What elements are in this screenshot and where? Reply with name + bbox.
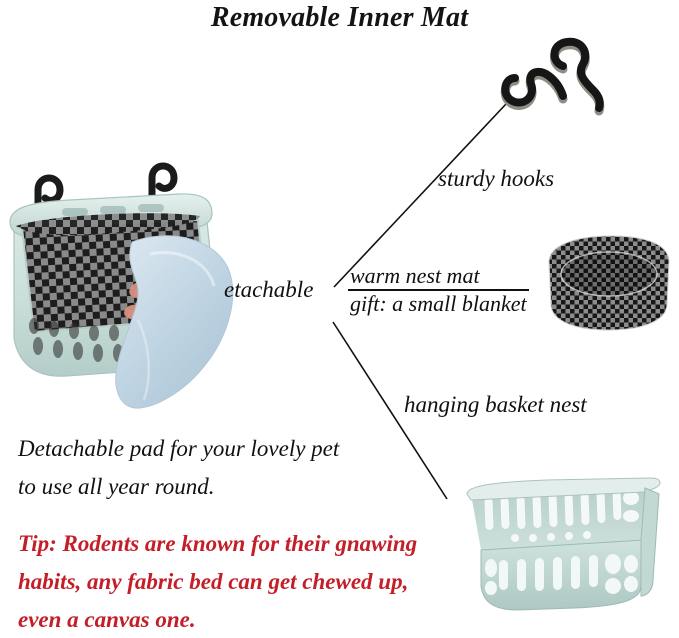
annotation-sturdy-hooks: sturdy hooks <box>438 166 554 192</box>
photo-gingham-nest-mat <box>543 228 675 334</box>
tip-line-2: habits, any fabric bed can get chewed up… <box>18 563 408 601</box>
tip-line-1: Tip: Rodents are known for their gnawing <box>18 525 417 563</box>
tip-line-3: even a canvas one. <box>18 601 196 638</box>
description-line-2: to use all year round. <box>18 468 215 506</box>
page-title: Removable Inner Mat <box>0 2 679 34</box>
product-infographic: Removable Inner Mat <box>0 0 679 638</box>
description-line-1: Detachable pad for your lovely pet <box>18 430 339 468</box>
photo-sturdy-hooks <box>495 35 625 120</box>
basket-side-rail <box>641 488 659 596</box>
leader-line-to-hooks <box>334 104 506 287</box>
s-hook-front <box>505 72 563 106</box>
annotation-warm-nest-mat-fraction: warm nest mat gift: a small blanket <box>348 264 529 316</box>
fraction-denominator: gift: a small blanket <box>348 292 529 316</box>
fleece-blanket <box>116 236 233 408</box>
annotation-hanging-basket-nest: hanging basket nest <box>404 392 587 418</box>
photo-mint-plastic-basket <box>455 468 670 613</box>
fraction-numerator: warm nest mat <box>348 264 529 288</box>
annotation-detachable: etachable <box>224 277 313 303</box>
